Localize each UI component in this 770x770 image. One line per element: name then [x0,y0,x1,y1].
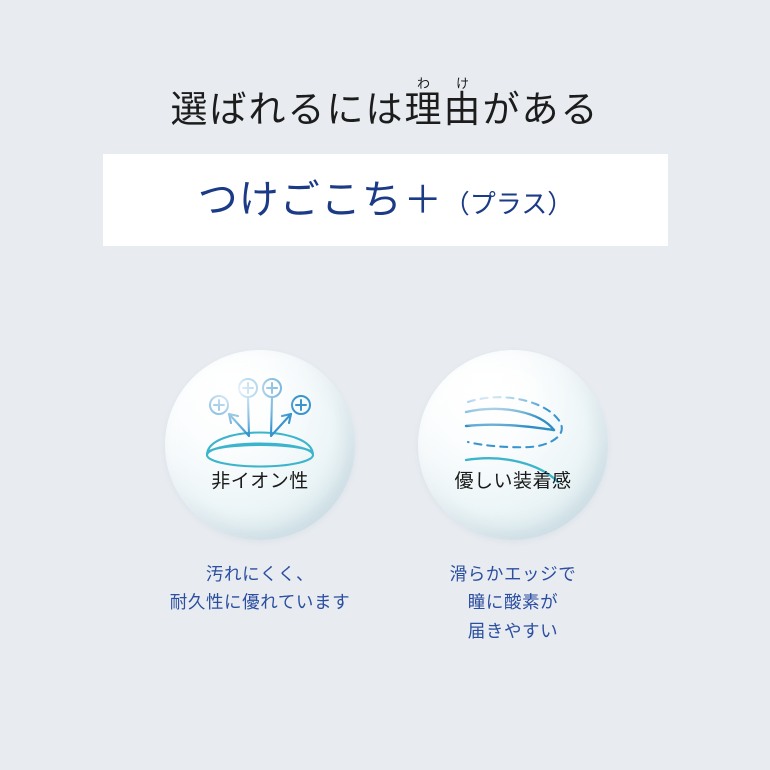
feature-item: 優しい装着感 滑らかエッジで 瞳に酸素が 届きやすい [388,350,638,645]
feature-bubble: 優しい装着感 [418,350,608,540]
feature-description-line: 届きやすい [388,617,638,645]
promo-page: 選ばれるには理わ由けがある つけごこち＋（プラス） [0,0,770,770]
page-title-part-1: 選ばれるには [171,90,405,131]
feature-description-line: 滑らかエッジで [388,560,638,588]
page-title-part-2: がある [483,90,600,131]
brand-banner: つけごこち＋（プラス） [103,154,668,246]
brand-name: つけごこち＋（プラス） [198,180,574,220]
ruby-base-1: 理 [405,90,444,131]
feature-label: 非イオン性 [165,472,355,491]
feature-description-line: 汚れにくく、 [135,560,385,588]
lens-plus-ions-icon [165,350,355,540]
page-title: 選ばれるには理わ由けがある [0,76,770,129]
brand-plus-symbol: ＋ [403,180,444,222]
smooth-edge-icon [418,350,608,540]
brand-kana-reading: （プラス） [444,190,573,219]
feature-description: 汚れにくく、 耐久性に優れています [135,560,385,617]
feature-description: 滑らかエッジで 瞳に酸素が 届きやすい [388,560,638,645]
ruby-text-2: け [444,76,483,91]
feature-item: 非イオン性 汚れにくく、 耐久性に優れています [135,350,385,617]
feature-bubble: 非イオン性 [165,350,355,540]
feature-description-line: 瞳に酸素が [388,588,638,616]
ruby-annotation-1: 理わ [405,90,444,131]
feature-list: 非イオン性 汚れにくく、 耐久性に優れています [0,350,770,670]
ruby-base-2: 由 [444,90,483,131]
feature-description-line: 耐久性に優れています [135,588,385,616]
ruby-text-1: わ [405,76,444,91]
feature-label: 優しい装着感 [418,472,608,491]
brand-name-main: つけごこち [198,177,403,222]
ruby-annotation-2: 由け [444,90,483,131]
